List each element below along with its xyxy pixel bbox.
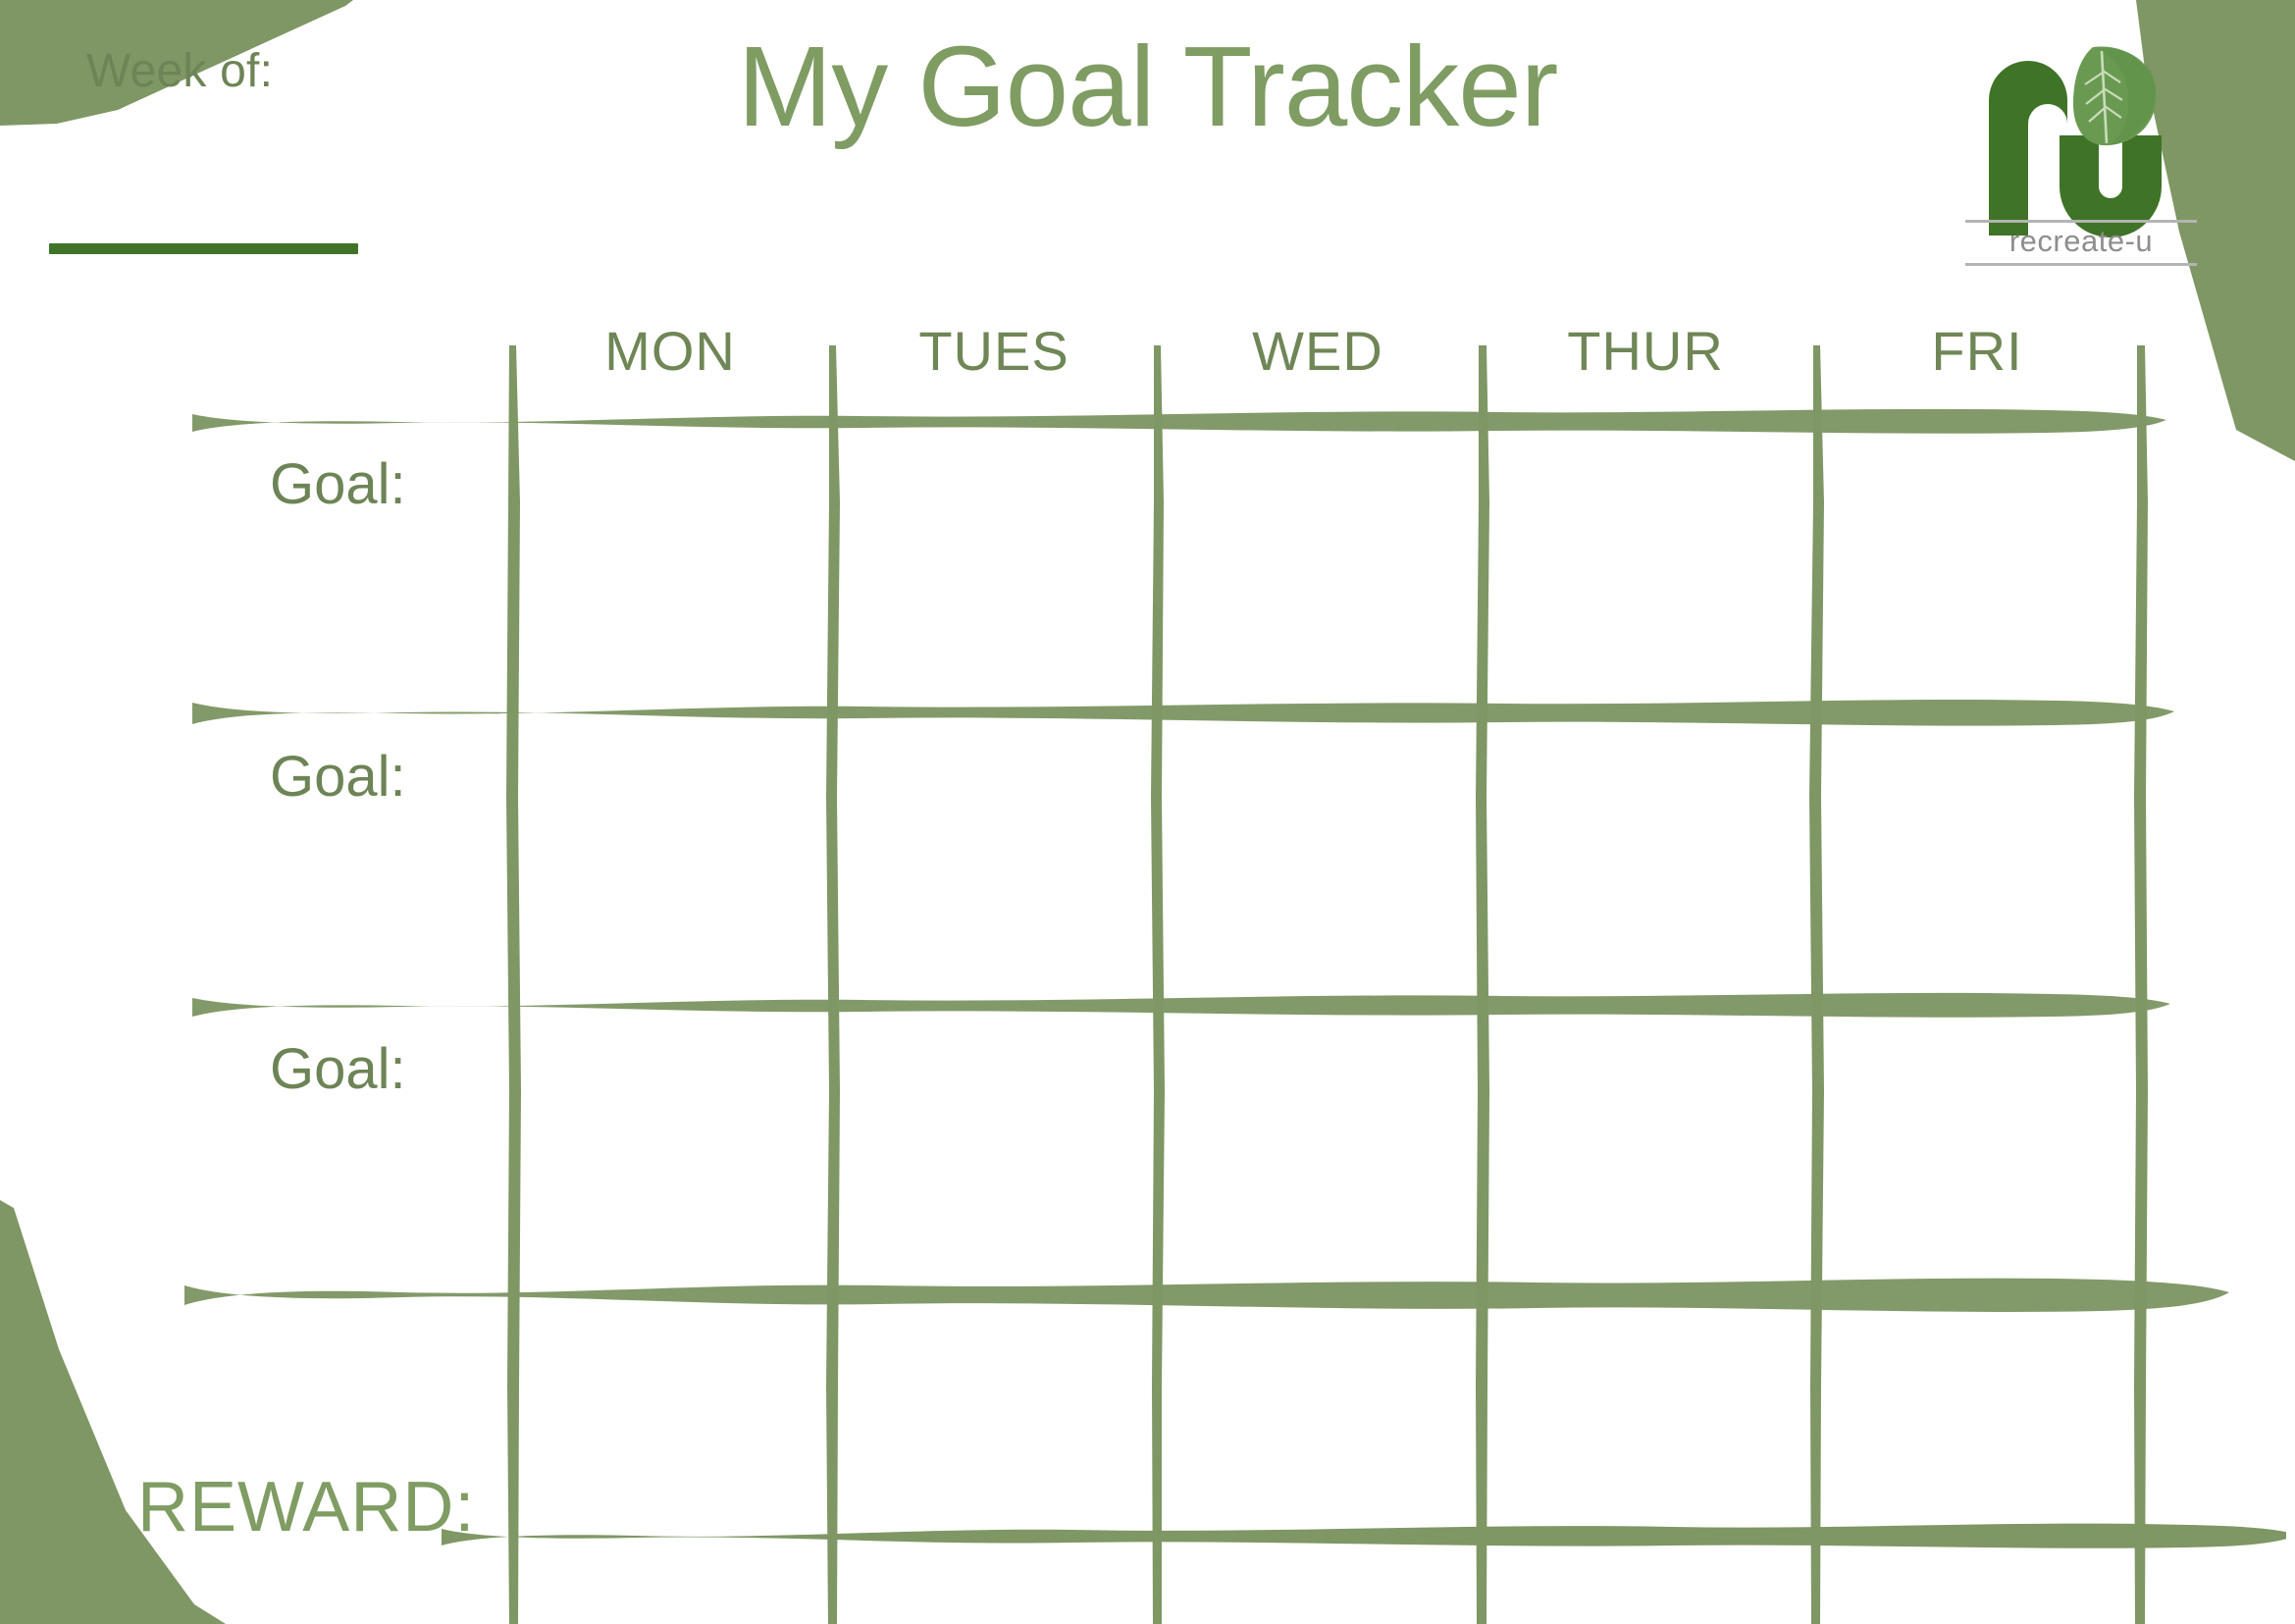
grid-column-line-2 xyxy=(826,345,840,1624)
day-header-wed: WED xyxy=(1156,319,1480,383)
grid-column-line-5 xyxy=(1809,345,1824,1624)
corner-wedge-bottom-left xyxy=(0,1114,226,1624)
grid-column-line-3 xyxy=(1151,345,1165,1624)
day-header-fri: FRI xyxy=(1811,319,2143,383)
grid-column-line-4 xyxy=(1476,345,1489,1624)
page-title: My Goal Tracker xyxy=(0,27,2295,147)
grid-row-line-1 xyxy=(192,409,2166,434)
week-of-write-in-rule[interactable] xyxy=(49,243,358,254)
reward-write-in-rule[interactable] xyxy=(422,1516,2286,1565)
grid-row-line-3 xyxy=(192,993,2170,1018)
grid-row-line-2 xyxy=(192,700,2174,726)
goal-tracker-page: Week of: My Goal Tracker recreate-u MON … xyxy=(0,0,2295,1624)
day-header-thur: THUR xyxy=(1480,319,1811,383)
logo-wordmark: recreate-u xyxy=(1963,224,2199,259)
day-header-mon: MON xyxy=(508,319,832,383)
grid-column-line-6 xyxy=(2134,345,2148,1624)
logo-rule-bottom xyxy=(1965,263,2197,266)
goal-row-label-2: Goal: xyxy=(270,744,406,810)
logo-rule-top xyxy=(1965,220,2197,223)
leaf-icon xyxy=(2073,46,2156,145)
grid-row-line-bottom xyxy=(184,1279,2229,1312)
grid-column-line-1 xyxy=(506,345,521,1624)
day-header-tues: TUES xyxy=(832,319,1156,383)
goal-row-label-1: Goal: xyxy=(270,451,406,517)
goal-row-label-3: Goal: xyxy=(270,1036,406,1102)
